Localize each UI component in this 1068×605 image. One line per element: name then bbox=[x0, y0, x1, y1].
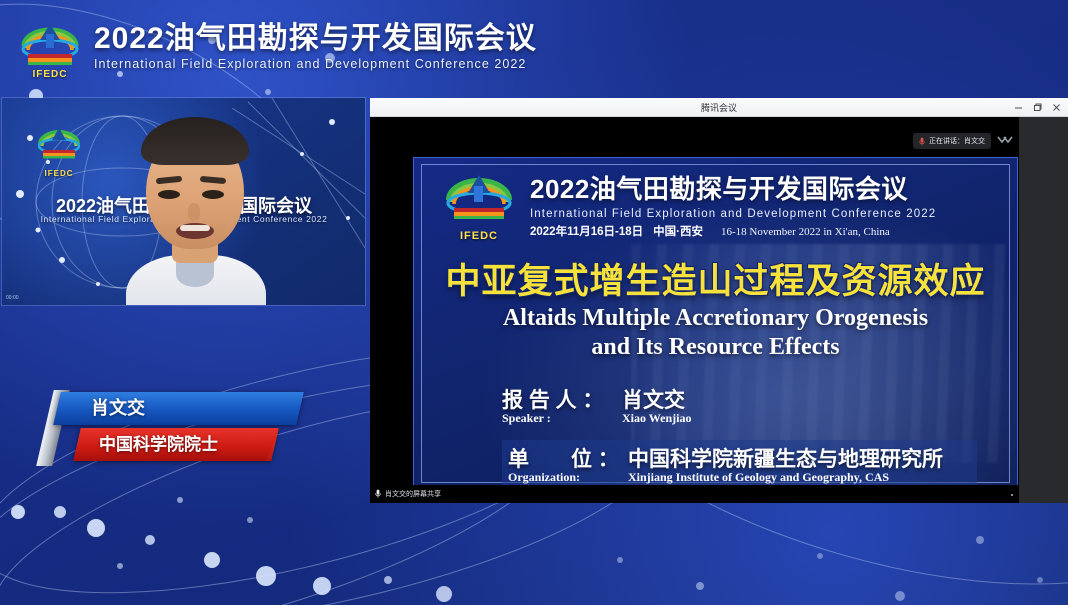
screen: IFEDC 2022油气田勘探与开发国际会议 International Fie… bbox=[0, 0, 1068, 605]
window-titlebar[interactable]: 腾讯会议 bbox=[370, 98, 1068, 117]
slide-org-row: 单 位 ： 中国科学院新疆生态与地理研究所 Organization: Xinj… bbox=[502, 440, 977, 489]
slide-conference-cn: 2022油气田勘探与开发国际会议 bbox=[530, 169, 936, 206]
conference-title-en: International Field Exploration and Deve… bbox=[94, 57, 537, 71]
share-status-bar: 肖文交的屏幕共享 bbox=[370, 485, 1019, 503]
speaker-name-cn: 肖文交 bbox=[622, 384, 685, 414]
slide-header: IFEDC 2022油气田勘探与开发国际会议 International Fie… bbox=[442, 168, 936, 240]
ifedc-wordmark: IFEDC bbox=[442, 230, 516, 242]
slide-conference-en: International Field Exploration and Deve… bbox=[530, 208, 936, 220]
speaker-video-panel[interactable]: IFEDC 2022油气田勘探与开发国际会议 International Fie… bbox=[2, 98, 365, 305]
org-name-cn: 中国科学院新疆生态与地理研究所 bbox=[628, 443, 943, 473]
slide-title-en-line1: Altaids Multiple Accretionary Orogenesis bbox=[414, 304, 1017, 333]
restore-icon[interactable] bbox=[1028, 98, 1047, 117]
slide-city-cn: 中国·西安 bbox=[653, 223, 703, 239]
org-name-en: Xinjiang Institute of Geology and Geogra… bbox=[628, 470, 889, 485]
conference-header: IFEDC 2022油气田勘探与开发国际会议 International Fie… bbox=[0, 0, 1068, 86]
slide-title-en-line2: and Its Resource Effects bbox=[414, 333, 1017, 362]
conference-title-cn: 2022油气田勘探与开发国际会议 bbox=[94, 23, 537, 55]
chevron-collapse-icon[interactable] bbox=[996, 135, 1014, 148]
slide-speaker-row: 报 告 人 ： 肖文交 Speaker : Xiao Wenjiao bbox=[502, 384, 977, 426]
org-label-cn: 单 位 ： bbox=[508, 443, 628, 473]
slide-meta: 报 告 人 ： 肖文交 Speaker : Xiao Wenjiao 单 位 ： bbox=[502, 384, 977, 490]
lower-third-title: 中国科学院院士 bbox=[73, 428, 279, 461]
active-speaker-badge[interactable]: 正在讲话：肖文交 bbox=[913, 133, 991, 149]
window-title: 腾讯会议 bbox=[701, 101, 737, 114]
slide-date-cn: 2022年11月16日-18日 bbox=[530, 223, 643, 239]
ifedc-wordmark: IFEDC bbox=[18, 69, 82, 80]
speaker-name-en: Xiao Wenjiao bbox=[622, 411, 691, 426]
speaker-portrait bbox=[120, 115, 270, 305]
speaker-label-cn: 报 告 人 ： bbox=[502, 384, 622, 414]
ifedc-watermark-icon: IFEDC bbox=[36, 122, 82, 168]
active-speaker-text: 正在讲话：肖文交 bbox=[929, 136, 985, 146]
microphone-icon bbox=[375, 485, 381, 503]
ifedc-logo-icon: IFEDC bbox=[442, 168, 516, 240]
share-status-text: 肖文交的屏幕共享 bbox=[385, 489, 441, 499]
lower-third-title-text: 中国科学院院士 bbox=[77, 428, 275, 461]
speaker-label-en: Speaker : bbox=[502, 411, 622, 426]
close-icon[interactable] bbox=[1047, 98, 1066, 117]
lower-third-banner: 肖文交 中国科学院院士 bbox=[57, 392, 300, 464]
window-body: IFEDC 2022油气田勘探与开发国际会议 International Fie… bbox=[370, 117, 1068, 503]
video-timecode: 00:00 bbox=[6, 295, 19, 301]
tencent-meeting-window[interactable]: 腾讯会议 bbox=[370, 98, 1068, 503]
status-dot bbox=[1011, 494, 1013, 496]
minimize-icon[interactable] bbox=[1009, 98, 1028, 117]
screen-share-stage[interactable]: IFEDC 2022油气田勘探与开发国际会议 International Fie… bbox=[370, 117, 1019, 503]
org-label-en: Organization: bbox=[508, 470, 628, 485]
ifedc-watermark-wordmark: IFEDC bbox=[36, 169, 82, 178]
ifedc-logo-icon: IFEDC bbox=[18, 16, 82, 78]
slide-title-en: Altaids Multiple Accretionary Orogenesis… bbox=[414, 304, 1017, 363]
microphone-icon bbox=[919, 137, 925, 146]
slide-date-en: 16-18 November 2022 in Xi'an, China bbox=[721, 226, 890, 238]
lower-third-name-text: 肖文交 bbox=[57, 392, 300, 425]
slide-title-cn: 中亚复式增生造山过程及资源效应 bbox=[414, 253, 1017, 304]
presentation-slide: IFEDC 2022油气田勘探与开发国际会议 International Fie… bbox=[413, 157, 1018, 490]
lower-third-name: 肖文交 bbox=[53, 392, 304, 425]
